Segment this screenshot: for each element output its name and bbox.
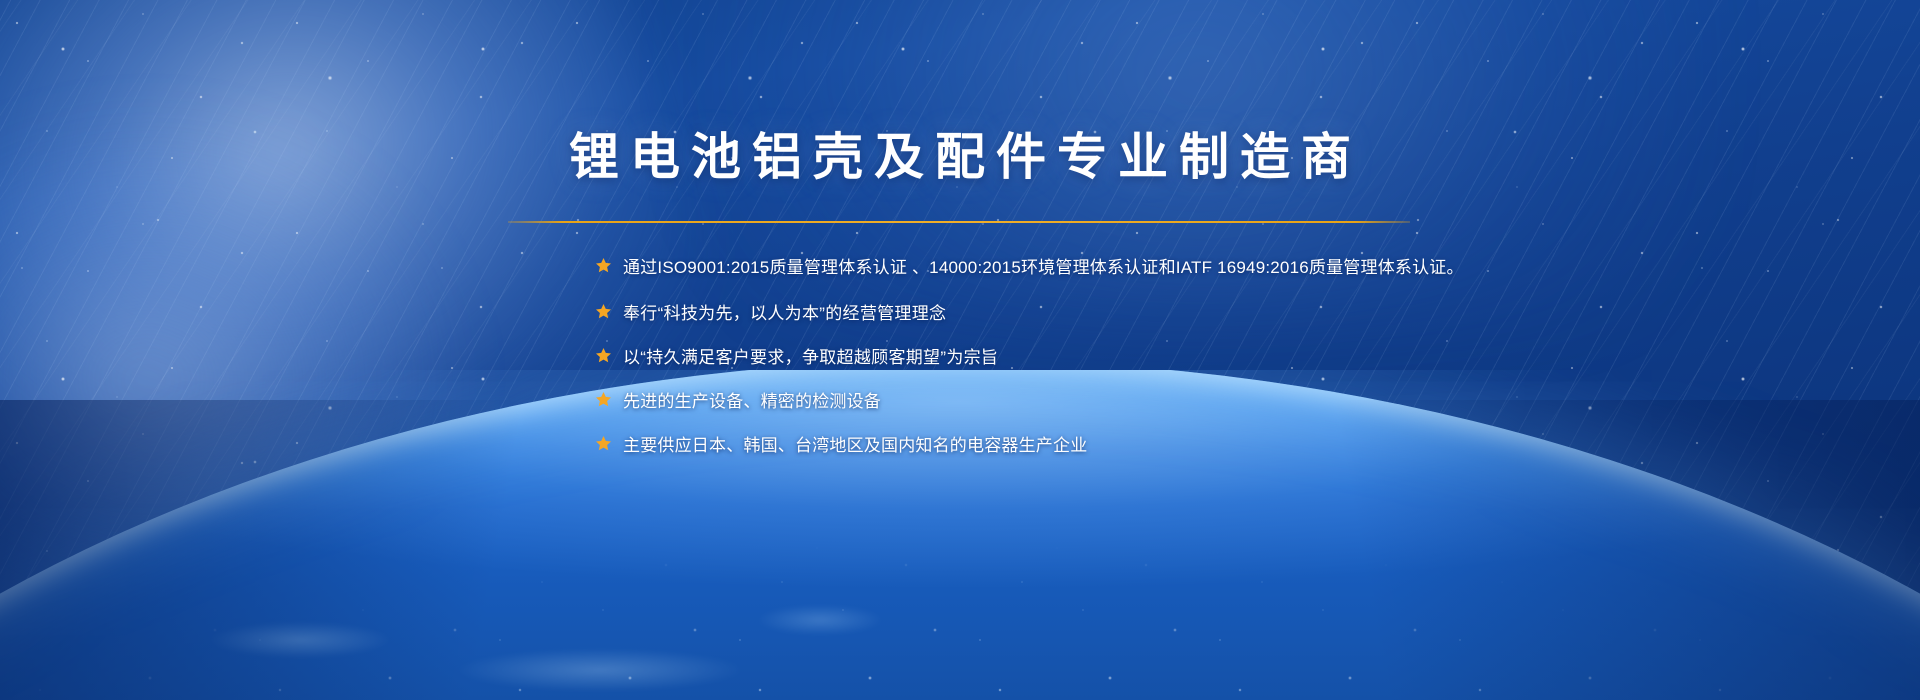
list-item-label: 奉行“科技为先，以人为本”的经营管理理念	[623, 299, 946, 324]
list-item-label: 以“持久满足客户要求，争取超越顾客期望”为宗旨	[623, 343, 998, 368]
list-item: 主要供应日本、韩国、台湾地区及国内知名的电容器生产企业	[595, 424, 1655, 462]
title-divider	[508, 221, 1410, 223]
list-item-label: 先进的生产设备、精密的检测设备	[623, 387, 881, 412]
list-item: 奉行“科技为先，以人为本”的经营管理理念	[595, 292, 1655, 330]
hero-banner: 锂电池铝壳及配件专业制造商 通过ISO9001:2015质量管理体系认证 、14…	[0, 0, 1920, 700]
list-item: 先进的生产设备、精密的检测设备	[595, 380, 1655, 418]
star-icon	[595, 435, 612, 452]
star-icon	[595, 303, 612, 320]
feature-list: 通过ISO9001:2015质量管理体系认证 、14000:2015环境管理体系…	[595, 246, 1655, 468]
star-icon	[595, 391, 612, 408]
list-item-label: 通过ISO9001:2015质量管理体系认证 、14000:2015环境管理体系…	[623, 253, 1464, 278]
banner-title: 锂电池铝壳及配件专业制造商	[0, 130, 1920, 185]
banner-content: 锂电池铝壳及配件专业制造商 通过ISO9001:2015质量管理体系认证 、14…	[0, 0, 1920, 700]
list-item-label: 主要供应日本、韩国、台湾地区及国内知名的电容器生产企业	[623, 431, 1087, 456]
star-icon	[595, 257, 612, 274]
list-item: 通过ISO9001:2015质量管理体系认证 、14000:2015环境管理体系…	[595, 246, 1655, 284]
star-icon	[595, 347, 612, 364]
list-item: 以“持久满足客户要求，争取超越顾客期望”为宗旨	[595, 336, 1655, 374]
